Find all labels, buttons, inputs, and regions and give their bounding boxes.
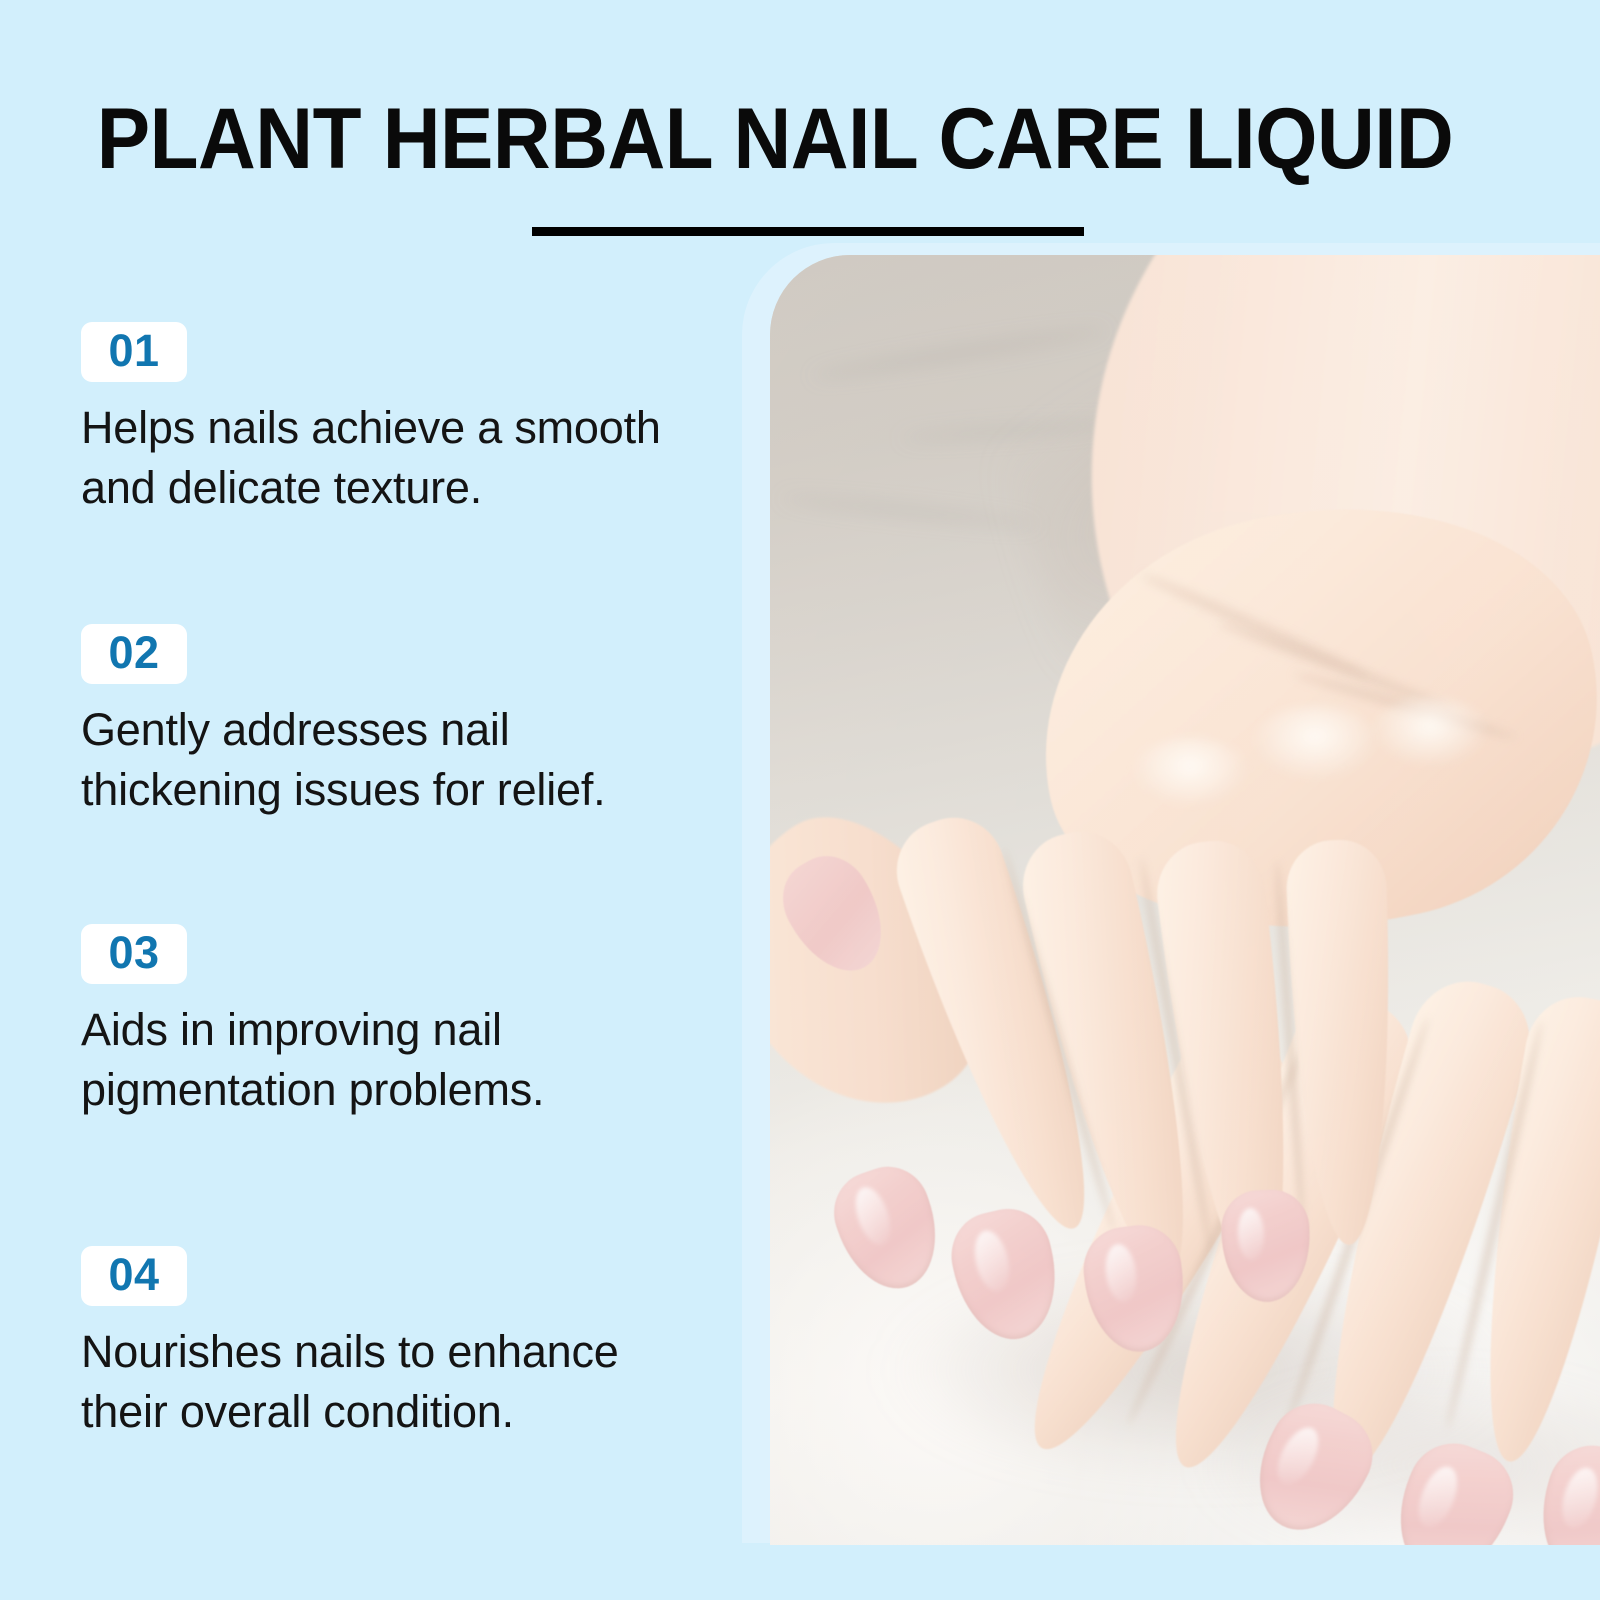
marble-vein	[811, 322, 1110, 385]
feature-number: 03	[103, 928, 165, 978]
feature-item-01: 01 Helps nails achieve a smooth and deli…	[81, 322, 721, 518]
feature-number-badge: 02	[81, 624, 187, 684]
knuckle-highlight	[1370, 698, 1490, 768]
product-photo	[770, 255, 1600, 1545]
feature-item-02: 02 Gently addresses nail thickening issu…	[81, 624, 721, 820]
title-underline-rule	[532, 227, 1084, 236]
feature-number: 02	[103, 628, 165, 678]
knuckle-highlight	[1130, 738, 1250, 808]
upper-hand	[830, 510, 1600, 1230]
feature-item-03: 03 Aids in improving nail pigmentation p…	[81, 924, 721, 1120]
feature-description: Helps nails achieve a smooth and delicat…	[81, 398, 681, 518]
feature-description: Aids in improving nail pigmentation prob…	[81, 1000, 696, 1120]
feature-number-badge: 04	[81, 1246, 187, 1306]
feature-number-badge: 01	[81, 322, 187, 382]
feature-item-04: 04 Nourishes nails to enhance their over…	[81, 1246, 721, 1442]
photo-backdrop	[770, 255, 1600, 1545]
page-title: PLANT HERBAL NAIL CARE LIQUID	[0, 96, 1488, 182]
feature-description: Nourishes nails to enhance their overall…	[81, 1322, 681, 1442]
feature-number: 01	[103, 326, 165, 376]
knuckle-highlight	[1250, 706, 1380, 782]
title-block: PLANT HERBAL NAIL CARE LIQUID	[0, 96, 1600, 182]
feature-description: Gently addresses nail thickening issues …	[81, 700, 696, 820]
feature-number: 04	[103, 1250, 165, 1300]
feature-number-badge: 03	[81, 924, 187, 984]
